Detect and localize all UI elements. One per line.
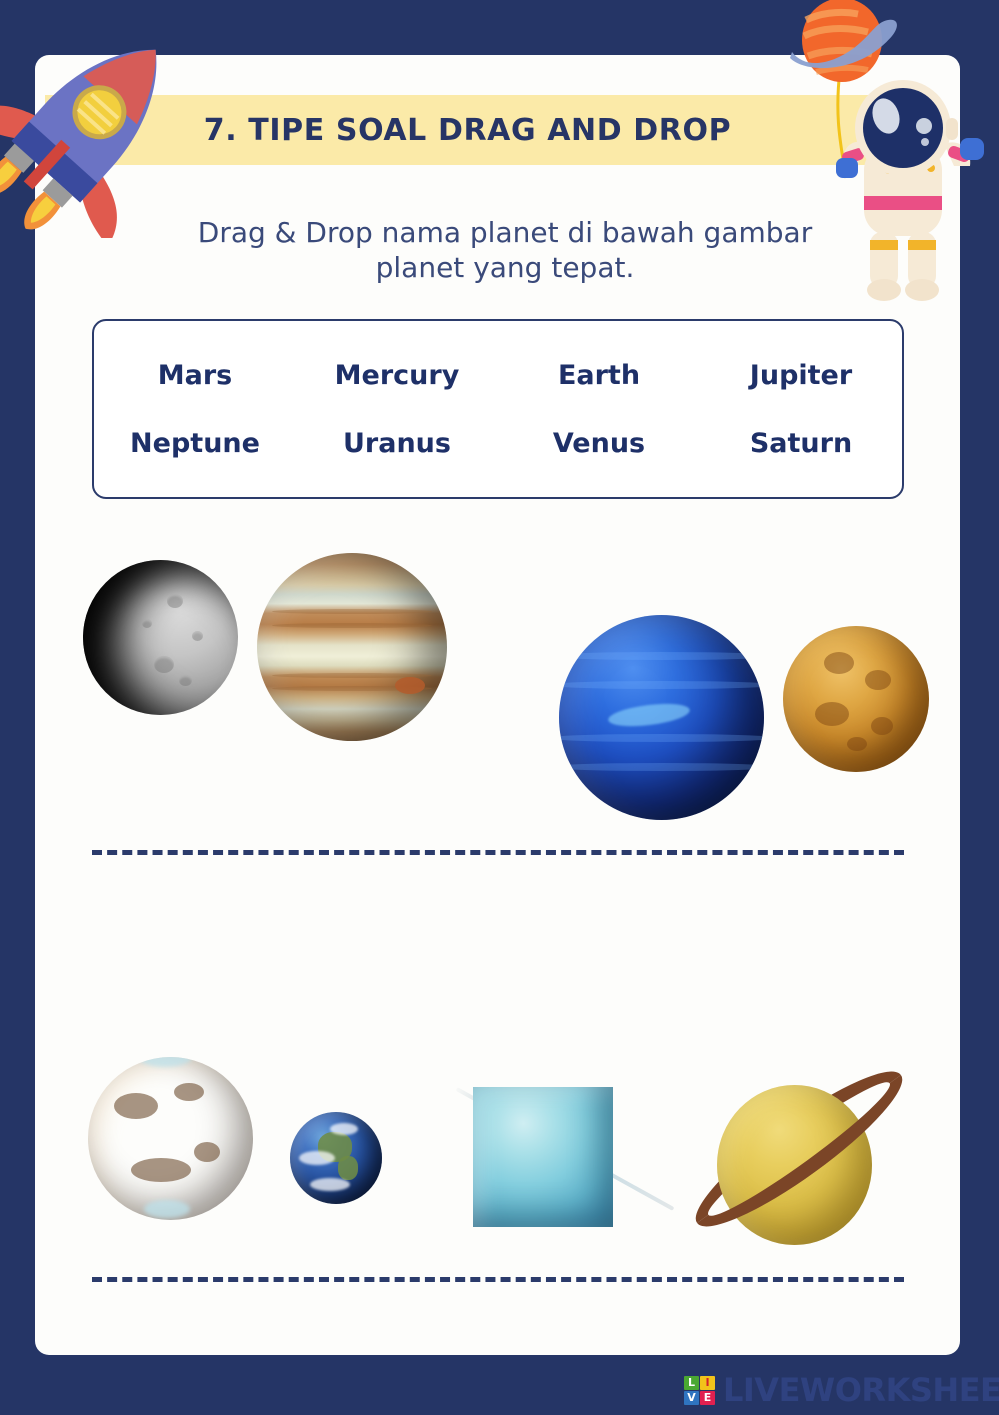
draggable-word-mercury[interactable]: Mercury: [296, 360, 498, 391]
draggable-word-neptune[interactable]: Neptune: [94, 428, 296, 459]
logo-letter-e: E: [700, 1391, 715, 1405]
planet-image-neptune: [559, 615, 764, 820]
logo-letter-l: L: [684, 1376, 699, 1390]
draggable-word-jupiter[interactable]: Jupiter: [700, 360, 902, 391]
worksheet-page: 7. TIPE SOAL DRAG AND DROP Drag & Drop n…: [0, 0, 999, 1415]
planet-image-earth: [290, 1112, 382, 1204]
word-bank-row: Mars Mercury Earth Jupiter: [94, 349, 902, 401]
draggable-word-saturn[interactable]: Saturn: [700, 428, 902, 459]
planet-image-saturn: [645, 1023, 950, 1313]
liveworksheets-watermark: L I V E LIVEWORKSHEETS: [684, 1374, 999, 1406]
draggable-word-uranus[interactable]: Uranus: [296, 428, 498, 459]
planet-image-mercury: [83, 560, 238, 715]
logo-letter-i: I: [700, 1376, 715, 1390]
draggable-word-mars[interactable]: Mars: [94, 360, 296, 391]
liveworksheets-logo-icon: L I V E: [684, 1376, 715, 1405]
saturn-balloon-icon: [790, 0, 897, 82]
planet-image-jupiter: [257, 553, 447, 741]
word-bank-row: Neptune Uranus Venus Saturn: [94, 417, 902, 469]
answer-line-row-1[interactable]: [92, 850, 904, 855]
brand-name: LIVEWORKSHEETS: [723, 1374, 999, 1406]
planet-image-venus: [783, 626, 929, 772]
astronaut-icon: [784, 0, 999, 310]
draggable-word-earth[interactable]: Earth: [498, 360, 700, 391]
planet-image-mars: [88, 1057, 253, 1220]
rocket-icon: [0, 8, 188, 238]
answer-line-row-2[interactable]: [92, 1277, 904, 1282]
uranus-body: [473, 1087, 613, 1227]
draggable-word-venus[interactable]: Venus: [498, 428, 700, 459]
word-bank: Mars Mercury Earth Jupiter Neptune Uranu…: [92, 319, 904, 499]
logo-letter-v: V: [684, 1391, 699, 1405]
instruction-text: Drag & Drop nama planet di bawah gambar …: [155, 215, 855, 285]
